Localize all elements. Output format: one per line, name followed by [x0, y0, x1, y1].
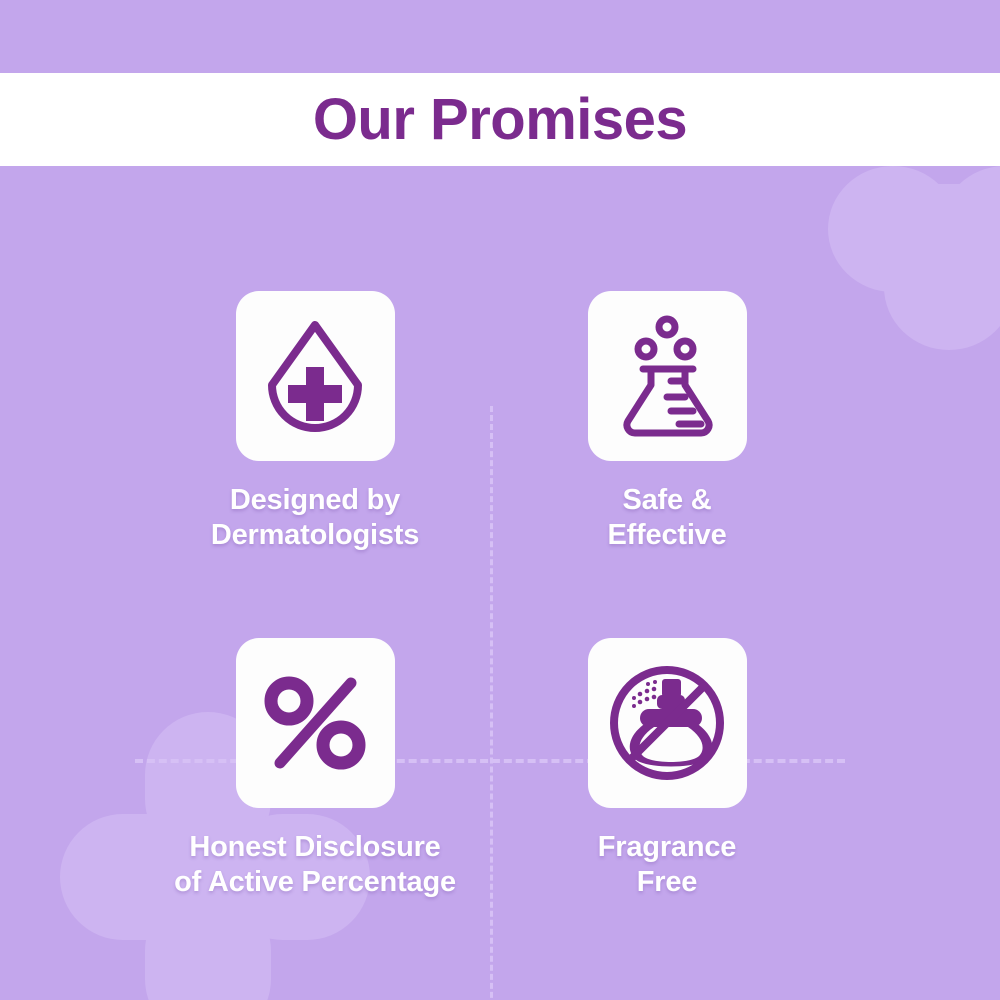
- header-band: Our Promises: [0, 73, 1000, 166]
- promise-grid: Designed by Dermatologists: [0, 166, 1000, 1000]
- promise-item-fragrance-free: Fragrance Free: [452, 638, 882, 901]
- droplet-plus-icon: [260, 317, 370, 435]
- promise-label: Safe & Effective: [607, 483, 726, 554]
- percent-icon: [263, 675, 367, 771]
- page-title: Our Promises: [313, 91, 687, 149]
- promise-label: Honest Disclosure of Active Percentage: [174, 830, 456, 901]
- flask-bubbles-icon: [615, 315, 719, 437]
- promises-poster: Our Promises Designed by Dermatologists: [0, 0, 1000, 1000]
- no-perfume-icon: [609, 665, 725, 781]
- promise-label: Designed by Dermatologists: [211, 483, 419, 554]
- icon-card: [588, 291, 747, 461]
- icon-card: [236, 291, 395, 461]
- icon-card: [236, 638, 395, 808]
- promise-label: Fragrance Free: [598, 830, 736, 901]
- promise-item-safe-effective: Safe & Effective: [452, 291, 882, 554]
- icon-card: [588, 638, 747, 808]
